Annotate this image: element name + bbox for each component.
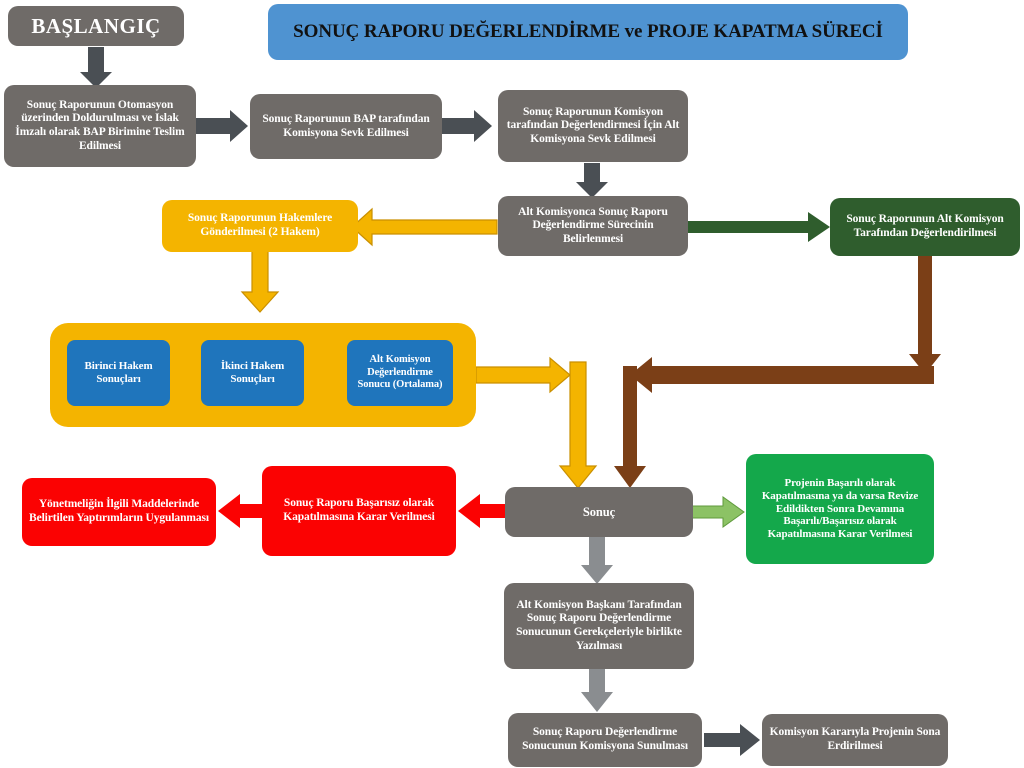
node-bap-komisyona-sevk[interactable]: Sonuç Raporunun BAP tarafından Komisyona…: [250, 94, 442, 159]
arrow-n14-to-n15: [581, 669, 613, 712]
arrow-n5-to-group: [242, 250, 278, 312]
node-komisyona-sunulmasi[interactable]: Sonuç Raporu Değerlendirme Sonucunun Kom…: [508, 713, 702, 767]
arrow-sonuc-to-n11: [458, 494, 505, 528]
arrow-n3-to-n4: [576, 163, 608, 198]
node-ikinci-hakem-sonuclari[interactable]: İkinci Hakem Sonuçları: [201, 340, 304, 406]
node-basarili-kapatilma[interactable]: Projenin Başarılı olarak Kapatılmasına y…: [746, 454, 934, 564]
node-yaptirimlarin-uygulanmasi[interactable]: Yönetmeliğin İlgili Maddelerinde Belirti…: [22, 478, 216, 546]
page-title: SONUÇ RAPORU DEĞERLENDİRME ve PROJE KAPA…: [268, 4, 908, 60]
arrow-n11-to-n12: [218, 494, 263, 528]
node-alt-komisyon-degerlendirme[interactable]: Sonuç Raporunun Alt Komisyon Tarafından …: [830, 198, 1020, 256]
node-projenin-sona-erdirilmesi[interactable]: Komisyon Kararıyla Projenin Sona Erdiril…: [762, 714, 948, 766]
node-sonuc-raporu-otomasyon[interactable]: Sonuç Raporunun Otomasyon üzerinden Dold…: [4, 85, 196, 167]
arrow-n1-to-n2: [196, 110, 248, 142]
arrow-sonuc-to-n14: [581, 536, 613, 584]
arrow-group-to-right: [476, 358, 570, 392]
arrow-n15-to-n16: [704, 724, 760, 756]
node-hakemlere-gonderilmesi[interactable]: Sonuç Raporunun Hakemlere Gönderilmesi (…: [162, 200, 358, 252]
flowchart-canvas: BAŞLANGIÇ SONUÇ RAPORU DEĞERLENDİRME ve …: [0, 0, 1024, 768]
node-alt-komisyon-ortalama[interactable]: Alt Komisyon Değerlendirme Sonucu (Ortal…: [347, 340, 453, 406]
arrow-brown-down-to-sonuc: [614, 366, 646, 488]
arrow-n4-to-n6: [688, 212, 830, 242]
node-basarisiz-kapatilma[interactable]: Sonuç Raporu Başarısız olarak Kapatılmas…: [262, 466, 456, 556]
start-node[interactable]: BAŞLANGIÇ: [8, 6, 184, 46]
node-gerekceleriyle-yazilmasi[interactable]: Alt Komisyon Başkanı Tarafından Sonuç Ra…: [504, 583, 694, 669]
node-birinci-hakem-sonuclari[interactable]: Birinci Hakem Sonuçları: [67, 340, 170, 406]
arrow-yellow-down-to-sonuc: [560, 362, 596, 488]
arrow-sonuc-to-n13: [692, 497, 744, 527]
node-alt-komisyona-sevk[interactable]: Sonuç Raporunun Komisyon tarafından Değe…: [498, 90, 688, 162]
arrow-n6-down: [909, 256, 941, 374]
node-sonuc[interactable]: Sonuç: [505, 487, 693, 537]
arrow-start-to-n1: [80, 47, 112, 88]
arrow-n2-to-n3: [442, 110, 492, 142]
arrow-n4-to-n5: [352, 209, 497, 245]
arrow-brown-left: [630, 357, 934, 393]
node-degerlendirme-sureci[interactable]: Alt Komisyonca Sonuç Raporu Değerlendirm…: [498, 196, 688, 256]
